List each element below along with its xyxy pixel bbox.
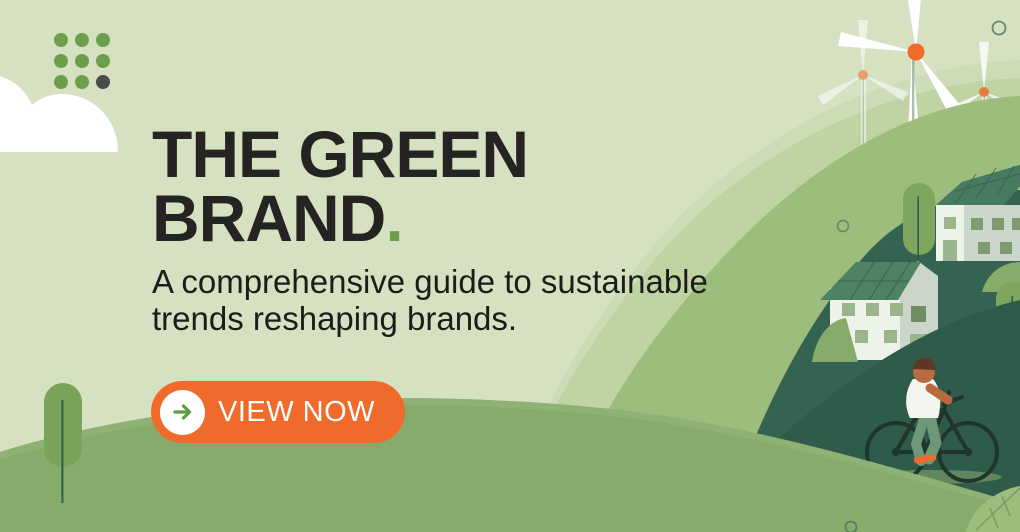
logo-dot — [54, 54, 68, 68]
logo-dot — [75, 33, 89, 47]
subheadline: A comprehensive guide to sustainable tre… — [152, 264, 717, 338]
headline-accent-dot: . — [385, 181, 402, 255]
logo-dot — [54, 33, 68, 47]
green-brand-banner: THE GREEN BRAND. A comprehensive guide t… — [0, 0, 1020, 532]
headline-line-1: THE GREEN — [152, 117, 528, 191]
logo-dot — [75, 75, 89, 89]
logo-dot — [75, 54, 89, 68]
view-now-button[interactable]: VIEW NOW — [151, 381, 405, 443]
copy-block: THE GREEN BRAND. A comprehensive guide t… — [152, 122, 752, 338]
nine-dot-grid-logo[interactable] — [54, 33, 110, 89]
logo-dot — [54, 75, 68, 89]
view-now-label: VIEW NOW — [218, 396, 375, 429]
logo-dot-accent — [96, 75, 110, 89]
logo-dot — [96, 54, 110, 68]
page-title: THE GREEN BRAND. — [152, 122, 752, 250]
arrow-right-icon — [160, 390, 205, 435]
headline-line-2: BRAND — [152, 181, 385, 255]
logo-dot — [96, 33, 110, 47]
